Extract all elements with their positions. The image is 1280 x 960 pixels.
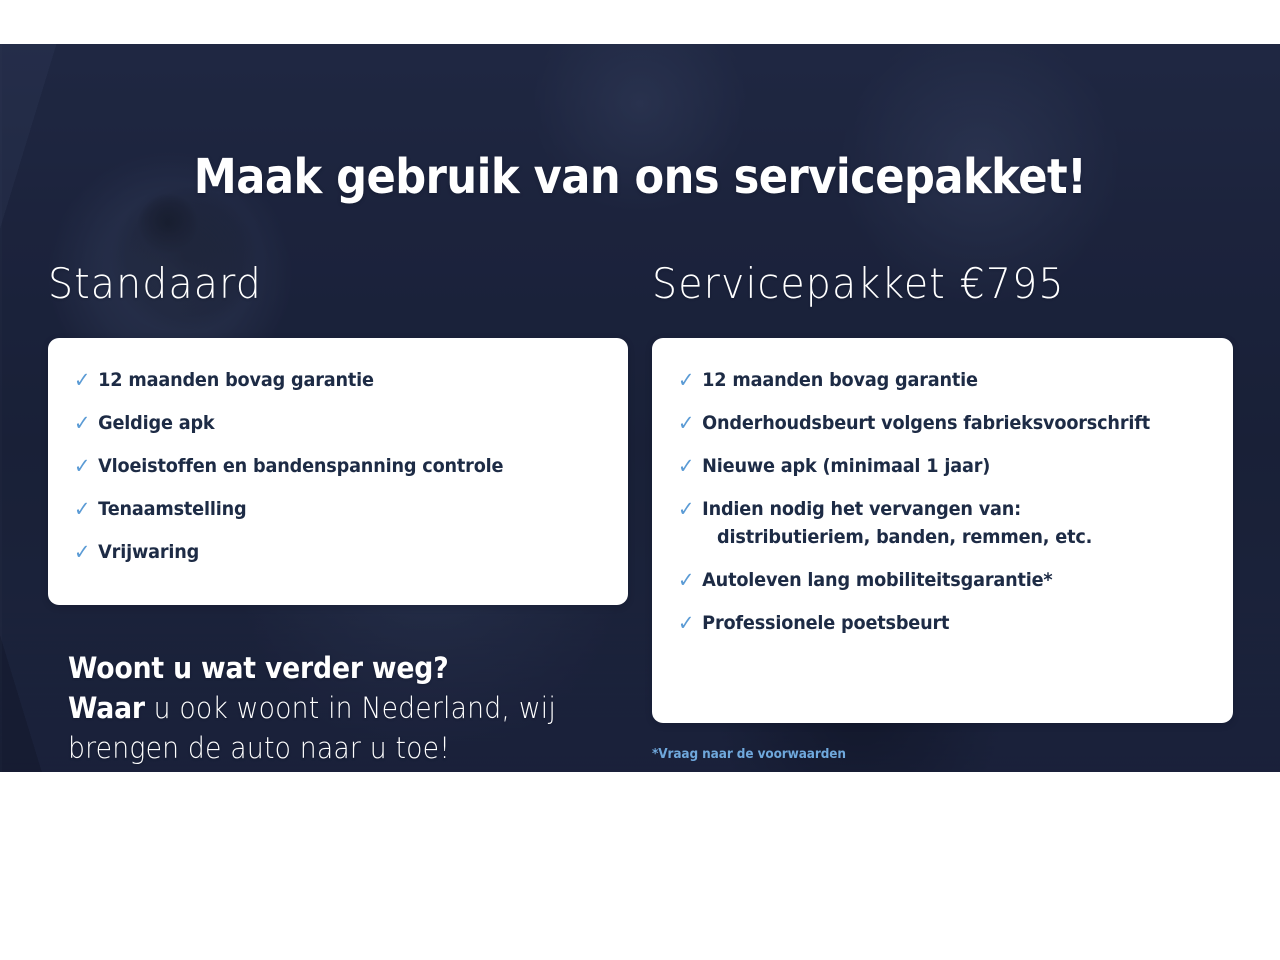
hero-content: Maak gebruik van ons servicepakket! Stan…: [0, 44, 1280, 772]
list-item: ✓ Indien nodig het vervangen van: distri…: [678, 497, 1170, 550]
column-title-servicepakket: Servicepakket €795: [652, 258, 1198, 310]
list-item: ✓ Nieuwe apk (minimaal 1 jaar): [678, 454, 1170, 479]
delivery-note-question: Woont u wat verder weg?: [68, 651, 449, 685]
list-item: ✓ Geldige apk: [74, 411, 565, 436]
checkmark-icon: ✓: [74, 454, 94, 479]
list-item-label: Vrijwaring: [98, 540, 199, 565]
list-item-label: 12 maanden bovag garantie: [702, 368, 978, 393]
list-item: ✓ 12 maanden bovag garantie: [74, 368, 565, 393]
hero-section: Maak gebruik van ons servicepakket! Stan…: [0, 44, 1280, 772]
standaard-feature-list: ✓ 12 maanden bovag garantie ✓ Geldige ap…: [74, 368, 602, 565]
list-item-label: Vloeistoffen en bandenspanning controle: [98, 454, 503, 479]
checkmark-icon: ✓: [678, 454, 698, 479]
column-title-standaard: Standaard: [48, 258, 593, 310]
delivery-note-line-2: Waar u ook woont in Nederland, wij: [68, 688, 583, 728]
checkmark-icon: ✓: [74, 540, 94, 565]
list-item-label: Tenaamstelling: [98, 497, 246, 522]
page-title: Maak gebruik van ons servicepakket!: [64, 149, 1216, 205]
column-standaard: Standaard ✓ 12 maanden bovag garantie ✓ …: [48, 258, 628, 605]
list-item: ✓ Vloeistoffen en bandenspanning control…: [74, 454, 565, 479]
servicepakket-feature-list: ✓ 12 maanden bovag garantie ✓ Onderhouds…: [678, 368, 1207, 636]
checkmark-icon: ✓: [74, 368, 94, 393]
standaard-feature-card: ✓ 12 maanden bovag garantie ✓ Geldige ap…: [48, 338, 628, 605]
servicepakket-feature-card: ✓ 12 maanden bovag garantie ✓ Onderhouds…: [652, 338, 1233, 723]
checkmark-icon: ✓: [678, 497, 698, 522]
list-item: ✓ Professionele poetsbeurt: [678, 611, 1170, 636]
list-item-label: 12 maanden bovag garantie: [98, 368, 374, 393]
checkmark-icon: ✓: [678, 568, 698, 593]
list-item: ✓ Vrijwaring: [74, 540, 565, 565]
list-item: ✓ Tenaamstelling: [74, 497, 565, 522]
delivery-note-rest: u ook woont in Nederland, wij: [145, 691, 556, 725]
list-item-label: Nieuwe apk (minimaal 1 jaar): [702, 454, 990, 479]
list-item-label: Autoleven lang mobiliteitsgarantie*: [702, 568, 1052, 593]
list-item-label: Professionele poetsbeurt: [702, 611, 949, 636]
delivery-note: Woont u wat verder weg? Waar u ook woont…: [68, 648, 583, 768]
checkmark-icon: ✓: [74, 497, 94, 522]
checkmark-icon: ✓: [678, 611, 698, 636]
list-item-label: Onderhoudsbeurt volgens fabrieksvoorschr…: [702, 411, 1150, 436]
poster-page: Maak gebruik van ons servicepakket! Stan…: [0, 0, 1280, 960]
terms-footnote: *Vraag naar de voorwaarden: [652, 747, 846, 762]
list-item: ✓ 12 maanden bovag garantie: [678, 368, 1170, 393]
checkmark-icon: ✓: [74, 411, 94, 436]
list-item-label-group: Indien nodig het vervangen van: distribu…: [702, 497, 1092, 550]
footer-section: Meer informatie: wijnne.nl AUTOBEDRIJF W…: [0, 772, 1280, 960]
checkmark-icon: ✓: [678, 411, 698, 436]
delivery-note-emphasis: Waar: [68, 691, 145, 725]
checkmark-icon: ✓: [678, 368, 698, 393]
delivery-note-line-3: brengen de auto naar u toe!: [68, 728, 583, 768]
delivery-note-line-1: Woont u wat verder weg?: [68, 648, 583, 688]
list-item: ✓ Autoleven lang mobiliteitsgarantie*: [678, 568, 1170, 593]
list-item-label: Indien nodig het vervangen van:: [702, 497, 1092, 522]
list-item-label: Geldige apk: [98, 411, 214, 436]
top-white-band: [0, 0, 1280, 44]
column-servicepakket: Servicepakket €795 ✓ 12 maanden bovag ga…: [652, 258, 1233, 723]
list-item: ✓ Onderhoudsbeurt volgens fabrieksvoorsc…: [678, 411, 1170, 436]
list-item-sublabel: distributieriem, banden, remmen, etc.: [702, 525, 1092, 550]
